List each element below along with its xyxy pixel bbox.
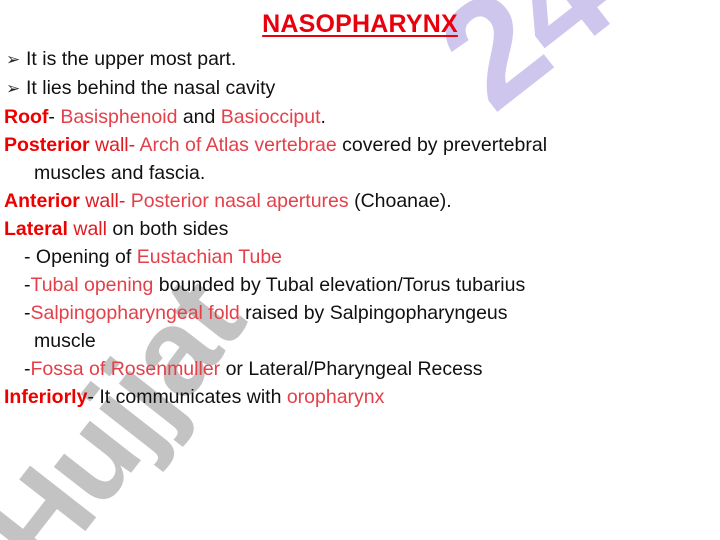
text-run: - bbox=[48, 106, 60, 128]
line-upper-most-part: ➢It is the upper most part. bbox=[0, 45, 720, 74]
line-salpingopharyngeal-fold: -Salpingopharyngeal fold raised by Salpi… bbox=[0, 299, 720, 327]
text-run: on both sides bbox=[107, 218, 228, 240]
slide-content: NASOPHARYNX ➢It is the upper most part.➢… bbox=[0, 10, 720, 411]
text-run: Lateral bbox=[4, 218, 68, 240]
text-run: oropharynx bbox=[287, 386, 385, 408]
text-run: muscle bbox=[34, 330, 96, 352]
slide-canvas: 24 Hujjat NASOPHARYNX ➢It is the upper m… bbox=[0, 0, 720, 540]
line-salpingopharyngeal-fold-cont: muscle bbox=[0, 327, 720, 355]
bullet-arrow-icon: ➢ bbox=[6, 75, 26, 103]
line-eustachian-tube: - Opening of Eustachian Tube bbox=[0, 243, 720, 271]
text-run: Anterior bbox=[4, 190, 80, 212]
line-roof: Roof- Basisphenoid and Basiocciput. bbox=[0, 103, 720, 131]
text-run: Basiocciput bbox=[221, 106, 321, 128]
text-run: It is the upper most part. bbox=[26, 48, 236, 70]
line-inferiorly: Inferiorly- It communicates with orophar… bbox=[0, 383, 720, 411]
line-fossa-of-rosenmuller: -Fossa of Rosenmuller or Lateral/Pharyng… bbox=[0, 355, 720, 383]
line-tubal-opening: -Tubal opening bounded by Tubal elevatio… bbox=[0, 271, 720, 299]
text-run: . bbox=[321, 106, 326, 128]
body-text-block: ➢It is the upper most part.➢It lies behi… bbox=[0, 45, 720, 411]
text-run: and bbox=[177, 106, 220, 128]
text-run: Salpingopharyngeal fold bbox=[31, 302, 240, 324]
text-run: Basisphenoid bbox=[60, 106, 177, 128]
text-run: wall- bbox=[85, 190, 125, 212]
line-anterior-wall: Anterior wall- Posterior nasal apertures… bbox=[0, 187, 720, 215]
text-run: Fossa of Rosenmuller bbox=[31, 358, 221, 380]
text-run: It lies behind the nasal cavity bbox=[26, 77, 275, 99]
text-run: Posterior bbox=[4, 134, 90, 156]
text-run: muscles and fascia. bbox=[34, 162, 205, 184]
text-run: raised by Salpingopharyngeus bbox=[240, 302, 508, 324]
text-run: (Choanae). bbox=[349, 190, 452, 212]
text-run: - Opening of bbox=[24, 246, 137, 268]
bullet-arrow-icon: ➢ bbox=[6, 46, 26, 74]
line-behind-nasal-cavity: ➢It lies behind the nasal cavity bbox=[0, 74, 720, 103]
text-run: Tubal opening bbox=[31, 274, 154, 296]
line-posterior-wall: Posterior wall- Arch of Atlas vertebrae … bbox=[0, 131, 720, 159]
line-posterior-wall-cont: muscles and fascia. bbox=[0, 159, 720, 187]
text-run: wall bbox=[73, 218, 107, 240]
text-run: Posterior nasal apertures bbox=[131, 190, 349, 212]
text-run: Eustachian Tube bbox=[137, 246, 282, 268]
text-run: Arch of Atlas vertebrae bbox=[139, 134, 336, 156]
text-run: or Lateral/Pharyngeal Recess bbox=[220, 358, 482, 380]
line-lateral-wall: Lateral wall on both sides bbox=[0, 215, 720, 243]
text-run: wall- bbox=[95, 134, 135, 156]
text-run: Inferiorly bbox=[4, 386, 87, 408]
page-title: NASOPHARYNX bbox=[0, 10, 720, 39]
text-run: bounded by Tubal elevation/Torus tubariu… bbox=[153, 274, 525, 296]
text-run: - It communicates with bbox=[87, 386, 286, 408]
text-run: Roof bbox=[4, 106, 48, 128]
text-run: covered by prevertebral bbox=[337, 134, 547, 156]
